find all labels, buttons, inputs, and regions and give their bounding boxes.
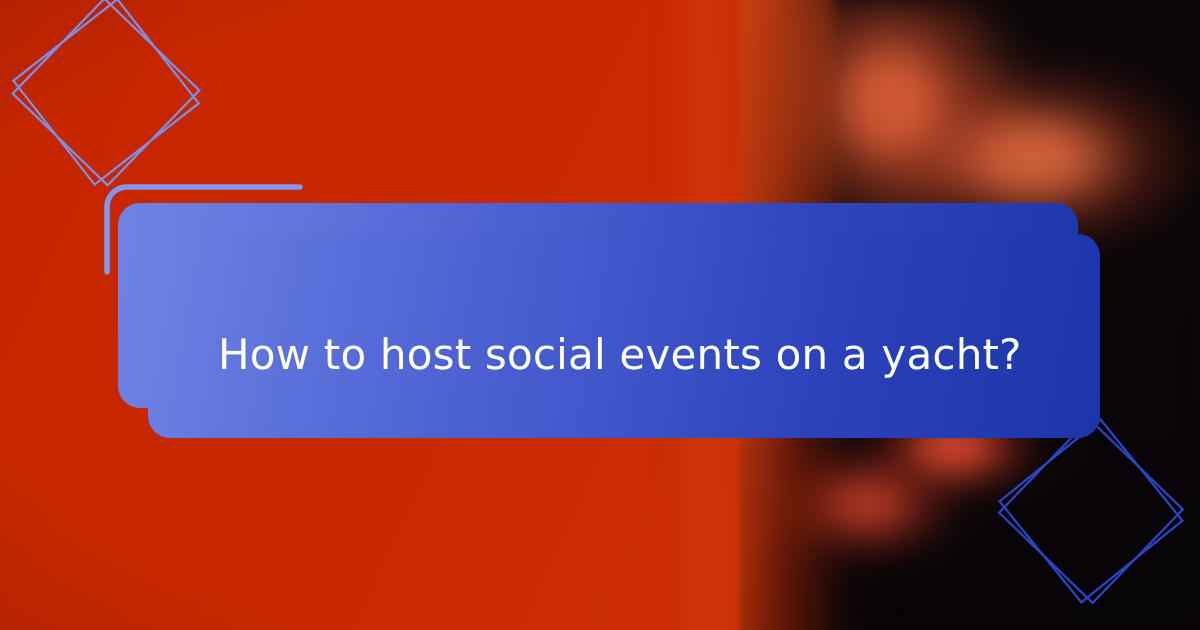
quote-card[interactable]: How to host social events on a yacht? bbox=[148, 234, 1100, 438]
card-title: How to host social events on a yacht? bbox=[218, 330, 1022, 379]
social-card-canvas: How to host social events on a yacht? bbox=[0, 0, 1200, 630]
